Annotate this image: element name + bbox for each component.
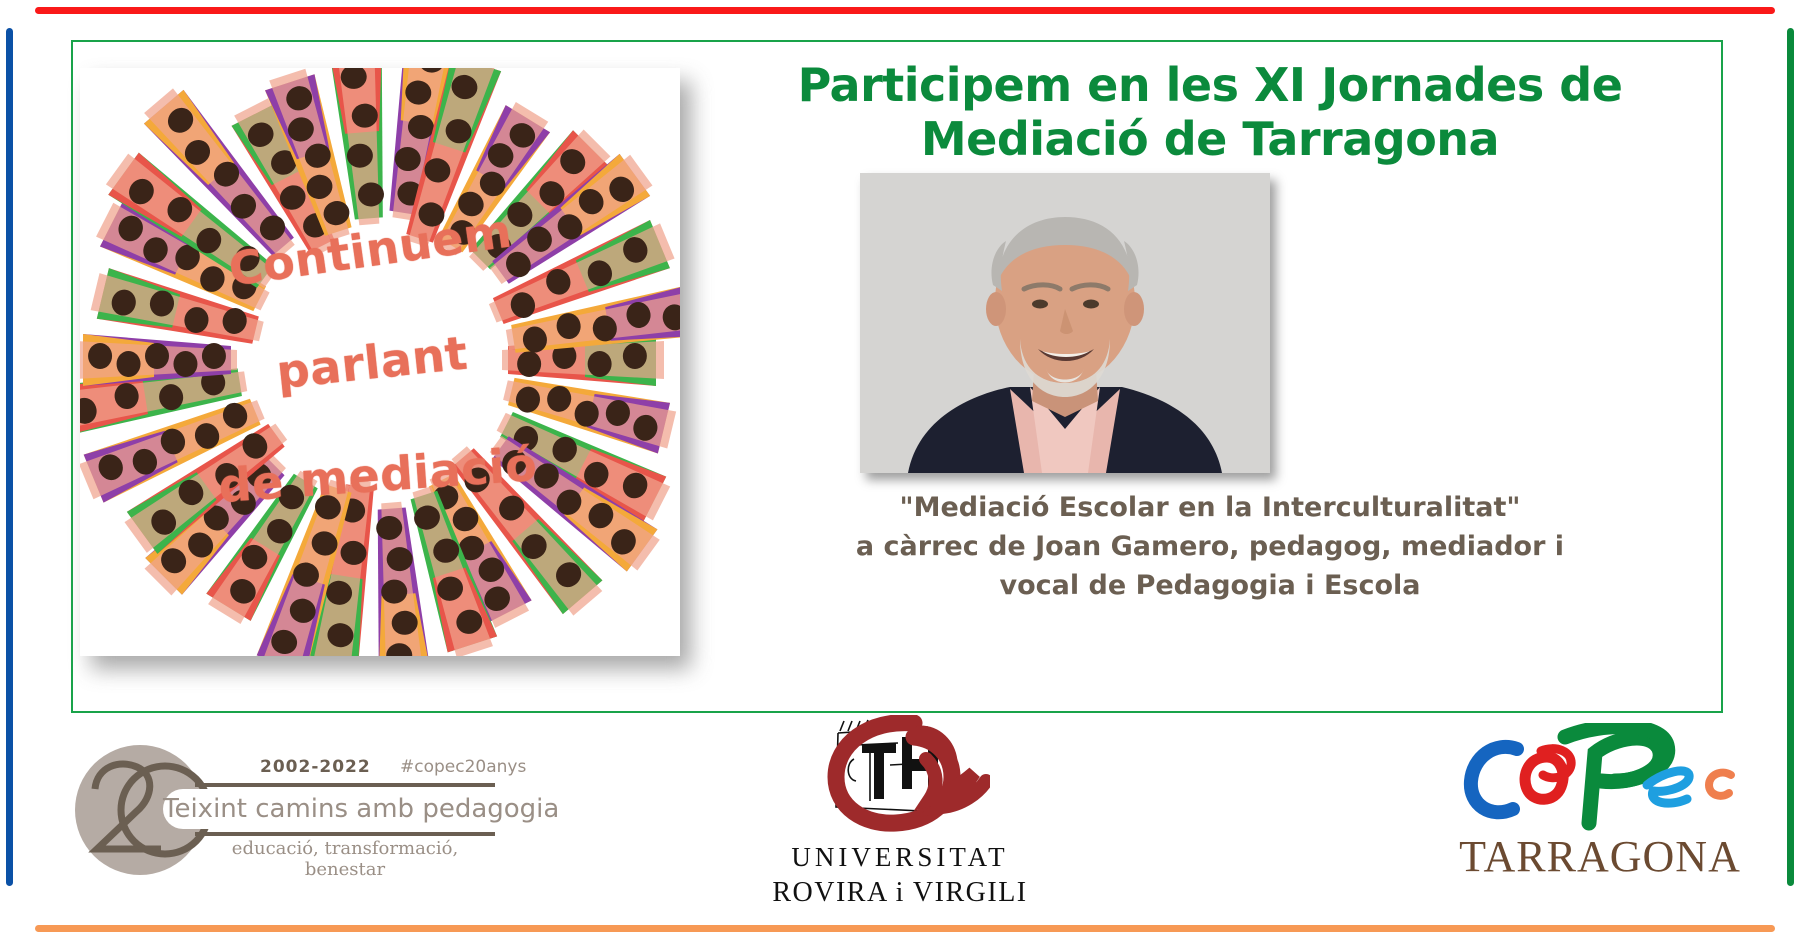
poster-slogan-line2: parlant bbox=[205, 318, 539, 408]
copec-20-rule-top bbox=[195, 783, 495, 787]
copec-20-hashtag: #copec20anys bbox=[400, 757, 526, 777]
page-title-line1: Participem en les XI Jornades de bbox=[705, 58, 1715, 112]
page-title: Participem en les XI Jornades de Mediaci… bbox=[705, 58, 1715, 167]
speaker-photo bbox=[860, 173, 1270, 473]
footer-logos: 2002-2022 #copec20anys Teixint camins am… bbox=[0, 715, 1800, 920]
poster-slogan-line1: Continuem bbox=[203, 199, 538, 300]
poster-canvas: Continuem parlant de mediació bbox=[80, 68, 680, 656]
speaker-caption: "Mediació Escolar en la Interculturalita… bbox=[705, 488, 1715, 605]
decorative-bar-bottom bbox=[35, 925, 1775, 932]
copec-20-anys-logo: 2002-2022 #copec20anys Teixint camins am… bbox=[75, 735, 495, 880]
speaker-portrait-illustration bbox=[860, 173, 1270, 473]
urv-logo: UNIVERSITAT ROVIRA i VIRGILI bbox=[750, 715, 1050, 915]
copec-brush-wordmark-icon bbox=[1455, 723, 1745, 833]
copec-20-years: 2002-2022 bbox=[260, 757, 371, 777]
caption-line1: "Mediació Escolar en la Interculturalita… bbox=[705, 488, 1715, 527]
decorative-bar-top bbox=[35, 7, 1775, 14]
copec-20-tagline: educació, transformació, benestar bbox=[195, 838, 495, 880]
copec-20-slogan: Teixint camins amb pedagogia bbox=[163, 789, 499, 829]
poster-slogan: Continuem parlant de mediació bbox=[199, 152, 562, 572]
copec-tarragona-word: TARRAGONA bbox=[1440, 831, 1760, 882]
urv-at-mark-icon bbox=[810, 715, 990, 840]
copec-tarragona-logo: TARRAGONA bbox=[1440, 723, 1760, 903]
caption-line3: vocal de Pedagogia i Escola bbox=[705, 566, 1715, 605]
urv-name-line1: UNIVERSITAT bbox=[750, 842, 1050, 873]
poster-artwork: Continuem parlant de mediació bbox=[73, 63, 704, 677]
copec-20-rule-bottom bbox=[195, 832, 495, 836]
speaker-photo-frame bbox=[860, 173, 1270, 473]
page-title-line2: Mediació de Tarragona bbox=[705, 112, 1715, 166]
caption-line2: a càrrec de Joan Gamero, pedagog, mediad… bbox=[705, 527, 1715, 566]
poster-slogan-line3: de mediació bbox=[211, 435, 544, 514]
right-column: Participem en les XI Jornades de Mediaci… bbox=[705, 48, 1715, 708]
urv-name-line2: ROVIRA i VIRGILI bbox=[750, 877, 1050, 909]
